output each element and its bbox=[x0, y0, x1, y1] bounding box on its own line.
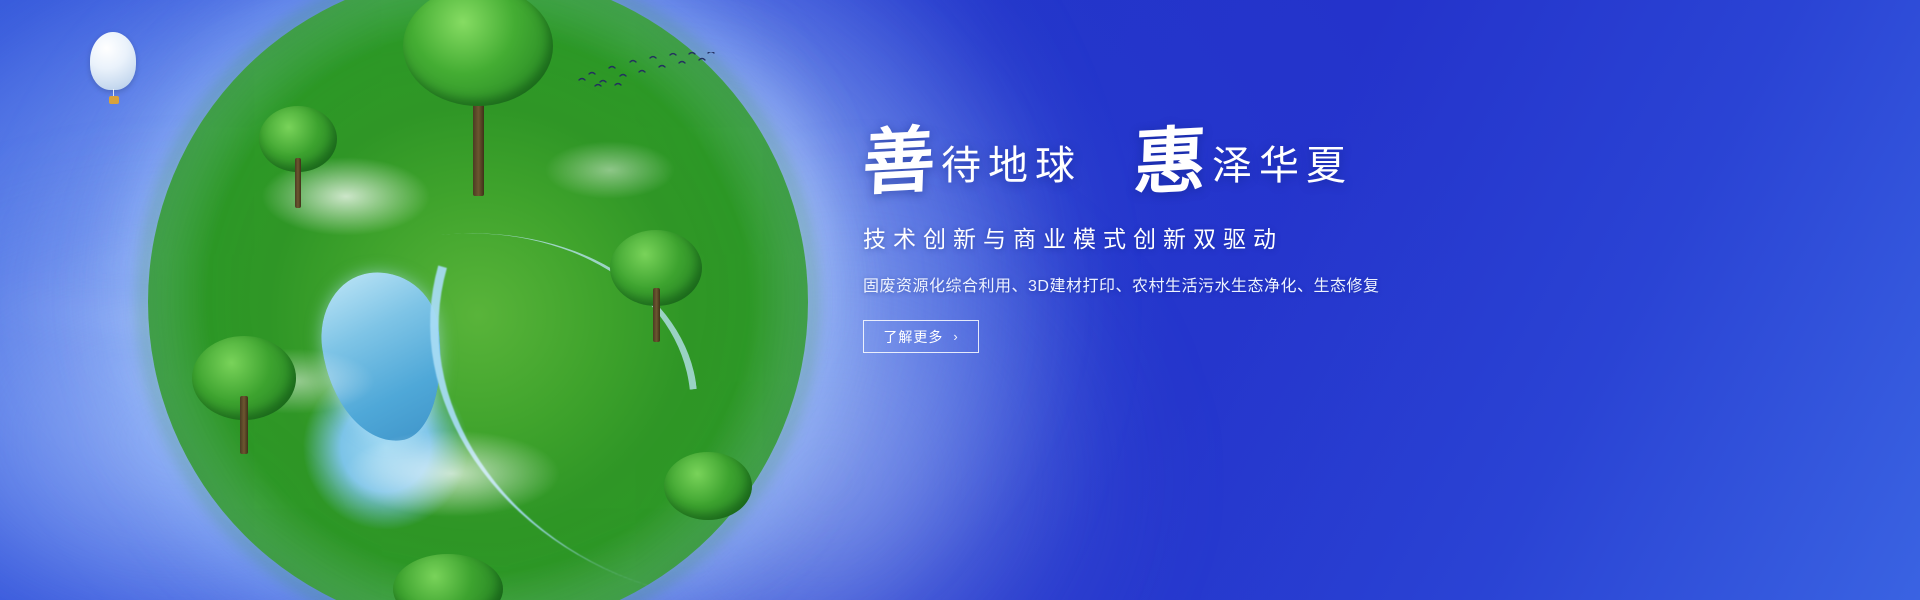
balloon-rope bbox=[113, 89, 114, 98]
river-shape bbox=[439, 210, 697, 414]
chevron-right-icon: › bbox=[953, 329, 958, 344]
headline-text-1: 待地球 bbox=[941, 146, 1082, 194]
planet-globe bbox=[148, 0, 808, 600]
hero-description: 固废资源化综合利用、3D建材打印、农村生活污水生态净化、生态修复 bbox=[863, 272, 1623, 296]
hero-headline: 善 待地球 惠 泽华夏 bbox=[863, 128, 1623, 194]
hero-subtitle: 技术创新与商业模式创新双驱动 bbox=[863, 220, 1623, 254]
tiny-planet-image bbox=[148, 0, 808, 600]
hero-content: 善 待地球 惠 泽华夏 技术创新与商业模式创新双驱动 固废资源化综合利用、3D建… bbox=[863, 128, 1623, 353]
lake-shape bbox=[313, 265, 454, 450]
learn-more-button[interactable]: 了解更多 › bbox=[863, 320, 979, 353]
hot-air-balloon-icon bbox=[90, 32, 138, 112]
headline-text-2: 泽华夏 bbox=[1212, 146, 1353, 194]
headline-char-primary-2: 惠 bbox=[1133, 126, 1214, 196]
balloon-envelope bbox=[90, 32, 136, 90]
headline-char-primary-1: 善 bbox=[862, 126, 943, 196]
hero-banner: 善 待地球 惠 泽华夏 技术创新与商业模式创新双驱动 固废资源化综合利用、3D建… bbox=[0, 0, 1920, 600]
balloon-basket bbox=[109, 96, 119, 104]
learn-more-label: 了解更多 bbox=[883, 327, 943, 347]
river-shape bbox=[369, 265, 726, 588]
